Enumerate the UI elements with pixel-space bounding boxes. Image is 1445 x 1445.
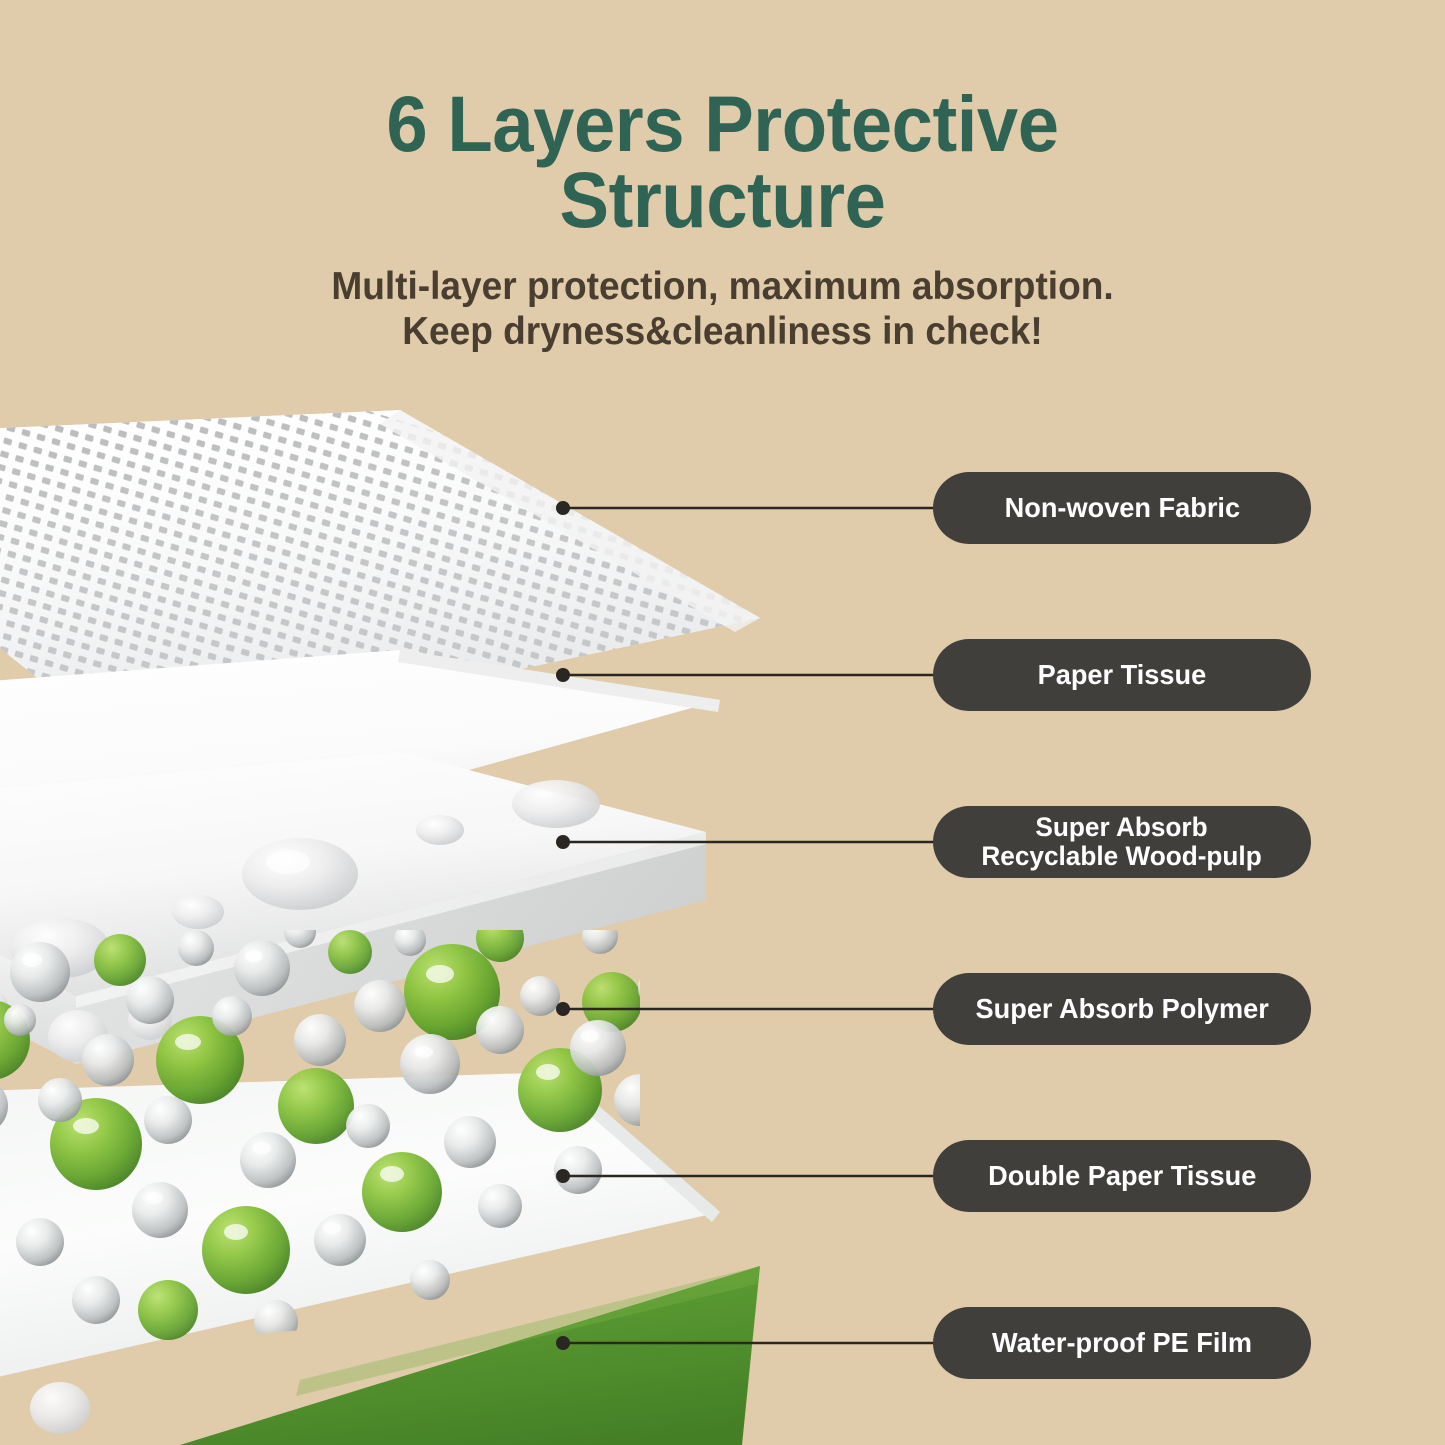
subtitle-line-2: Keep dryness&cleanliness in check! [36,309,1409,354]
layer-label-pe-film[interactable]: Water-proof PE Film [933,1307,1311,1379]
title-line-1: 6 Layers Protective [43,86,1401,162]
page-title: 6 Layers Protective Structure [43,0,1401,238]
subtitle-line-1: Multi-layer protection, maximum absorpti… [36,264,1409,309]
layer-label-text: Super Absorb Recyclable Wood-pulp [982,813,1262,871]
title-line-2: Structure [43,162,1401,238]
product-layers-illustration [0,400,820,1445]
page-subtitle: Multi-layer protection, maximum absorpti… [36,238,1409,354]
layer-label-text: Water-proof PE Film [992,1328,1252,1358]
layer-label-text: Paper Tissue [1038,660,1207,690]
layer-label-text: Super Absorb Polymer [975,994,1268,1024]
layer-label-double-paper-tissue[interactable]: Double Paper Tissue [933,1140,1311,1212]
layer-label-text: Non-woven Fabric [1004,493,1239,523]
layer-label-absorb-polymer[interactable]: Super Absorb Polymer [933,973,1311,1045]
layer-label-non-woven-fabric[interactable]: Non-woven Fabric [933,472,1311,544]
infographic-canvas: 6 Layers Protective Structure Multi-laye… [0,0,1445,1445]
header-block: 6 Layers Protective Structure Multi-laye… [0,0,1445,354]
layer-label-text: Double Paper Tissue [988,1161,1256,1191]
layer-label-paper-tissue[interactable]: Paper Tissue [933,639,1311,711]
layer-label-wood-pulp[interactable]: Super Absorb Recyclable Wood-pulp [933,806,1311,878]
